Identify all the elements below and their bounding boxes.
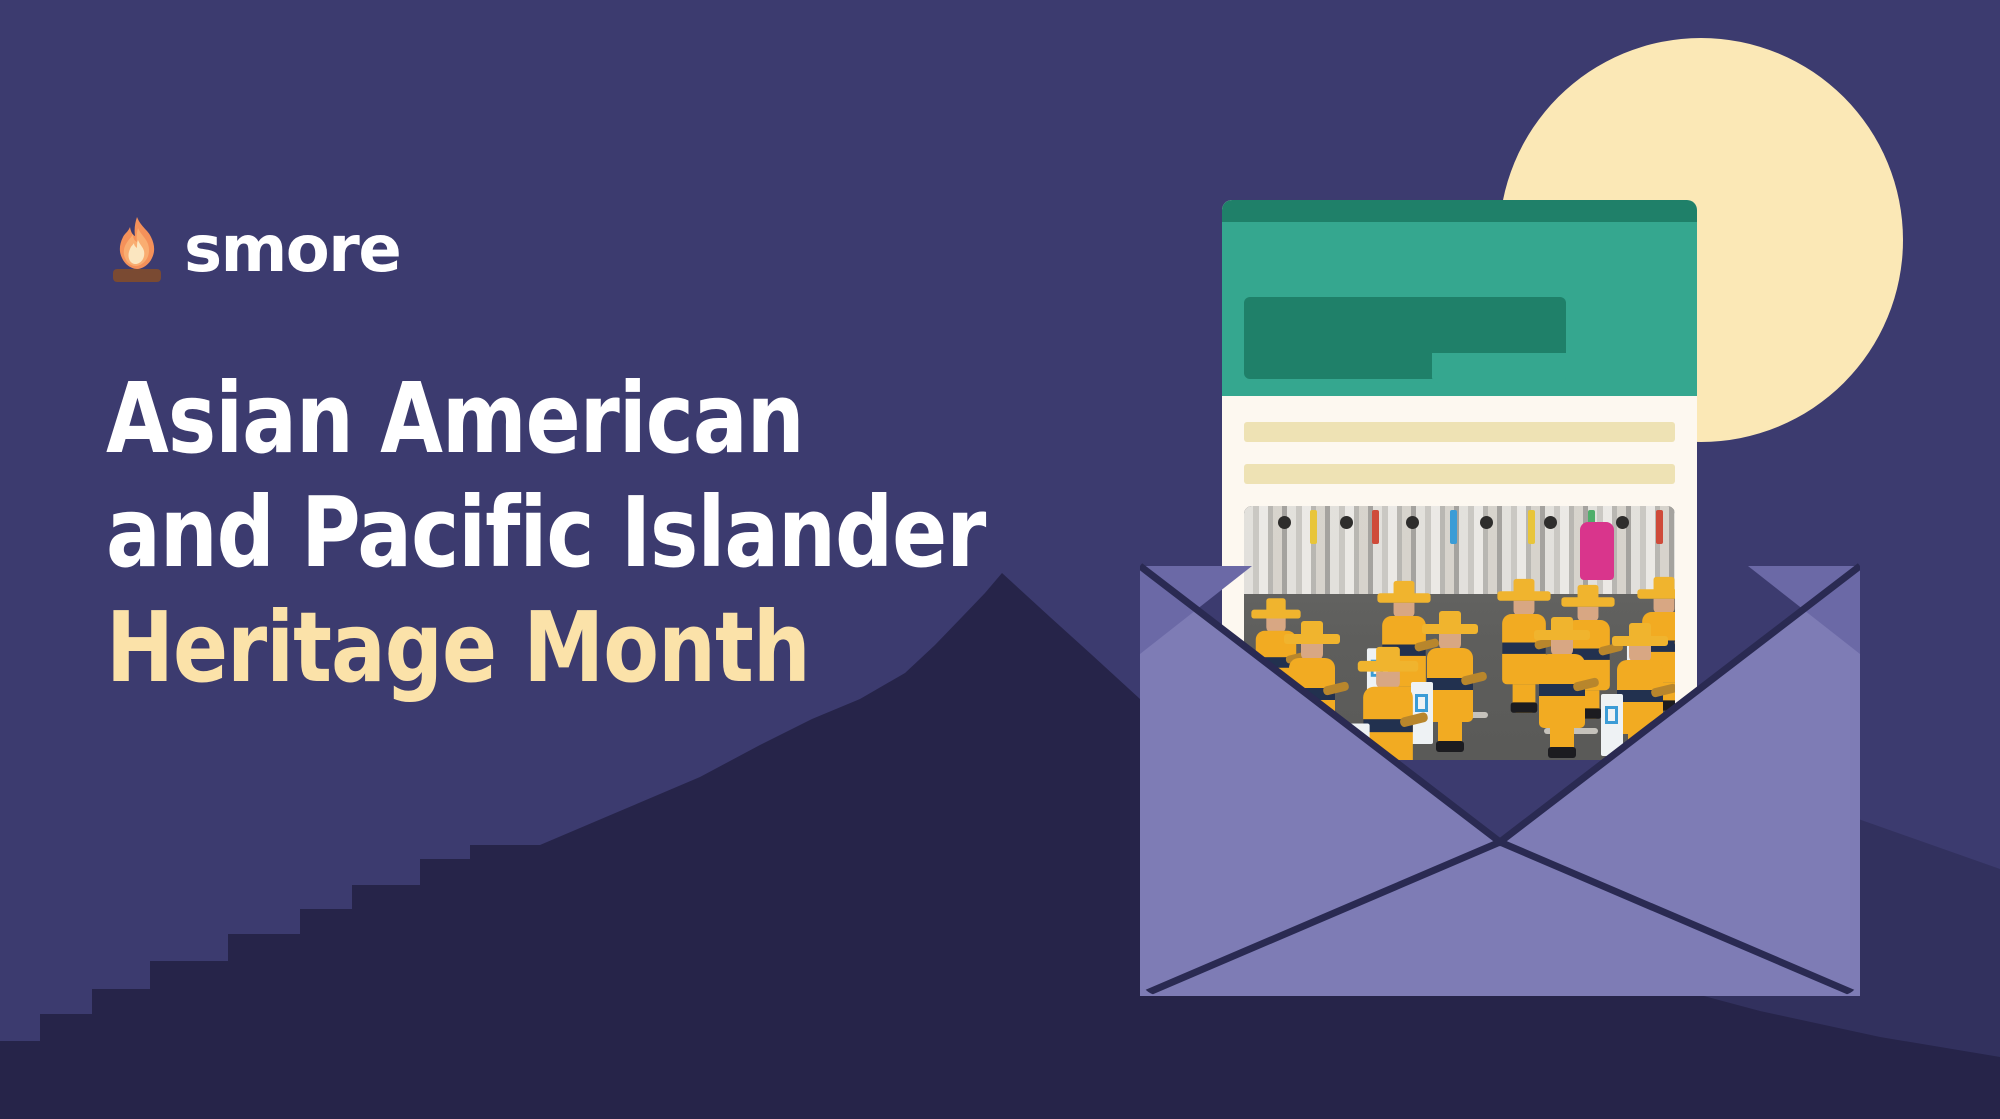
crowd-head bbox=[1616, 516, 1629, 529]
card-title-notch bbox=[1432, 353, 1566, 383]
card-header bbox=[1222, 222, 1697, 396]
card-top-bar bbox=[1222, 200, 1697, 222]
crowd-head bbox=[1278, 516, 1291, 529]
crowd-flag bbox=[1372, 510, 1379, 544]
crowd-flag bbox=[1656, 510, 1663, 544]
headline-line-1: Asian American bbox=[106, 362, 1036, 476]
campfire-icon bbox=[108, 214, 166, 286]
envelope-newsletter-artwork: Traditional Asian marching band performe… bbox=[1140, 150, 1860, 1000]
smore-wordmark: smore bbox=[184, 218, 400, 282]
text-placeholder-line-2 bbox=[1244, 464, 1675, 484]
crowd-head bbox=[1544, 516, 1557, 529]
crowd-flag bbox=[1310, 510, 1317, 544]
heritage-month-banner: smore Asian American and Pacific Islande… bbox=[0, 0, 2000, 1119]
crowd-flag bbox=[1528, 510, 1535, 544]
headline-line-2: and Pacific Islander bbox=[106, 476, 1036, 590]
smore-logo[interactable]: smore bbox=[108, 214, 400, 286]
headline-line-3: Heritage Month bbox=[106, 591, 1036, 705]
page-title: Asian American and Pacific Islander Heri… bbox=[106, 362, 1106, 705]
crowd-flag bbox=[1450, 510, 1457, 544]
crowd-head bbox=[1406, 516, 1419, 529]
crowd-head bbox=[1480, 516, 1493, 529]
open-envelope bbox=[1140, 542, 1860, 996]
text-placeholder-line-1 bbox=[1244, 422, 1675, 442]
crowd-head bbox=[1340, 516, 1353, 529]
